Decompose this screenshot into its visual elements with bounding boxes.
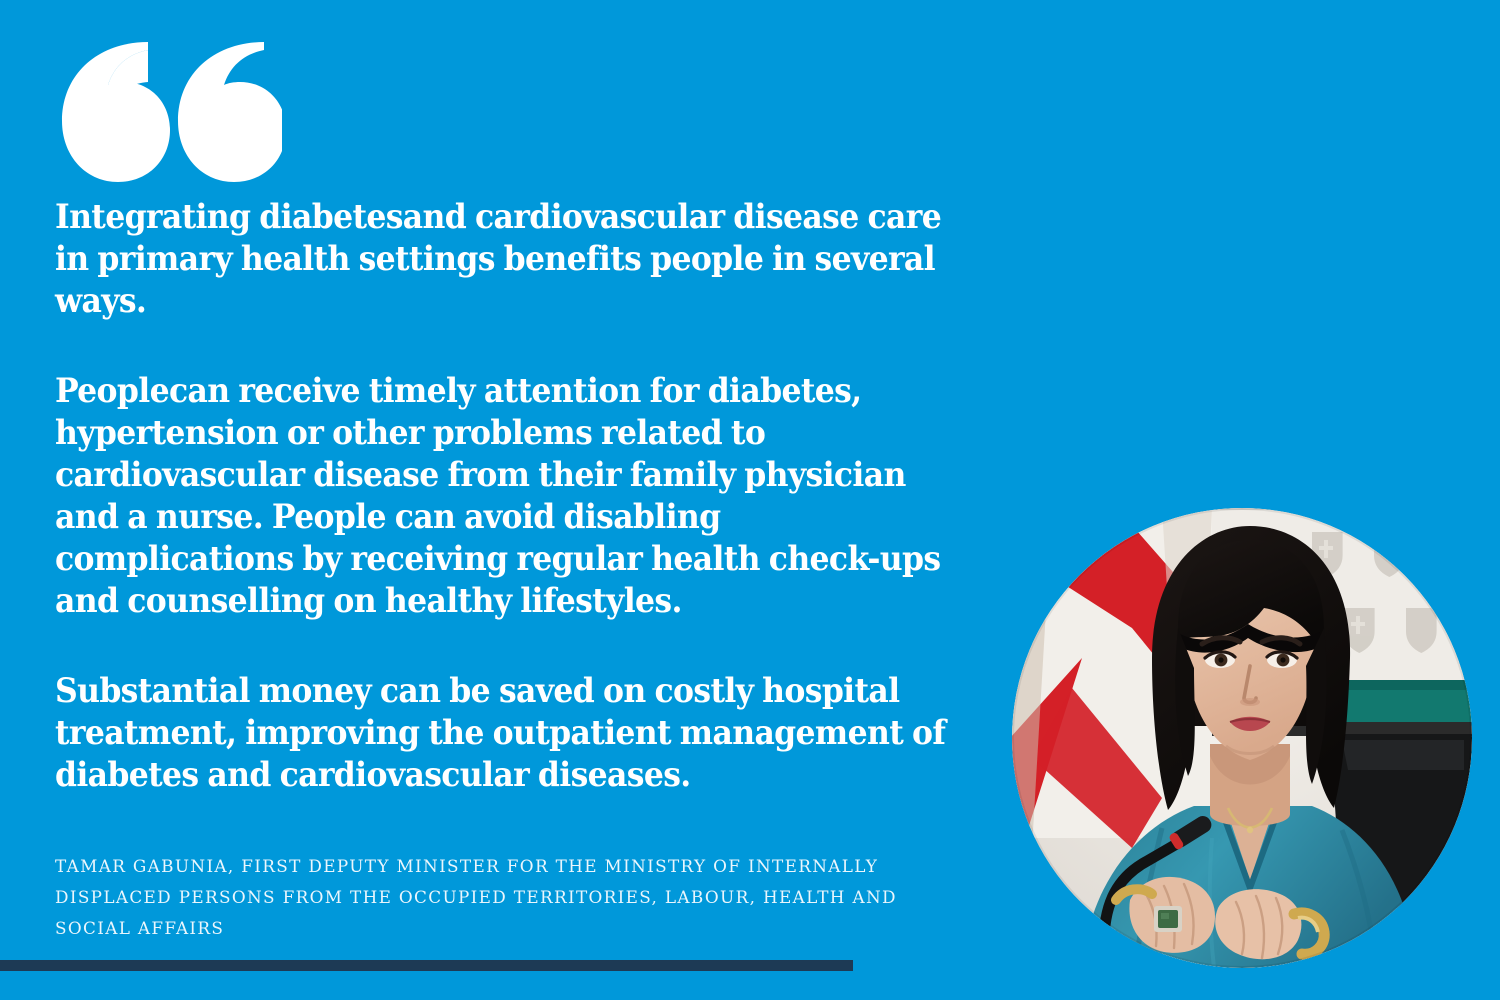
quote-paragraph-3: Substantial money can be saved on costly… — [55, 670, 957, 796]
bottom-divider-rule — [0, 960, 853, 971]
portrait-illustration — [1012, 508, 1472, 968]
quote-text-block: Integrating diabetesand cardiovascular d… — [55, 196, 1015, 796]
quote-paragraph-1: Integrating diabetesand cardiovascular d… — [55, 196, 957, 322]
portrait-photo-circle — [1012, 508, 1472, 968]
left-double-quotation-mark-icon — [52, 36, 282, 186]
attribution-text: Tamar Gabunia, First Deputy Minister for… — [55, 852, 916, 945]
quote-mark — [52, 36, 282, 186]
quote-paragraph-2: Peoplecan receive timely attention for d… — [55, 370, 957, 622]
